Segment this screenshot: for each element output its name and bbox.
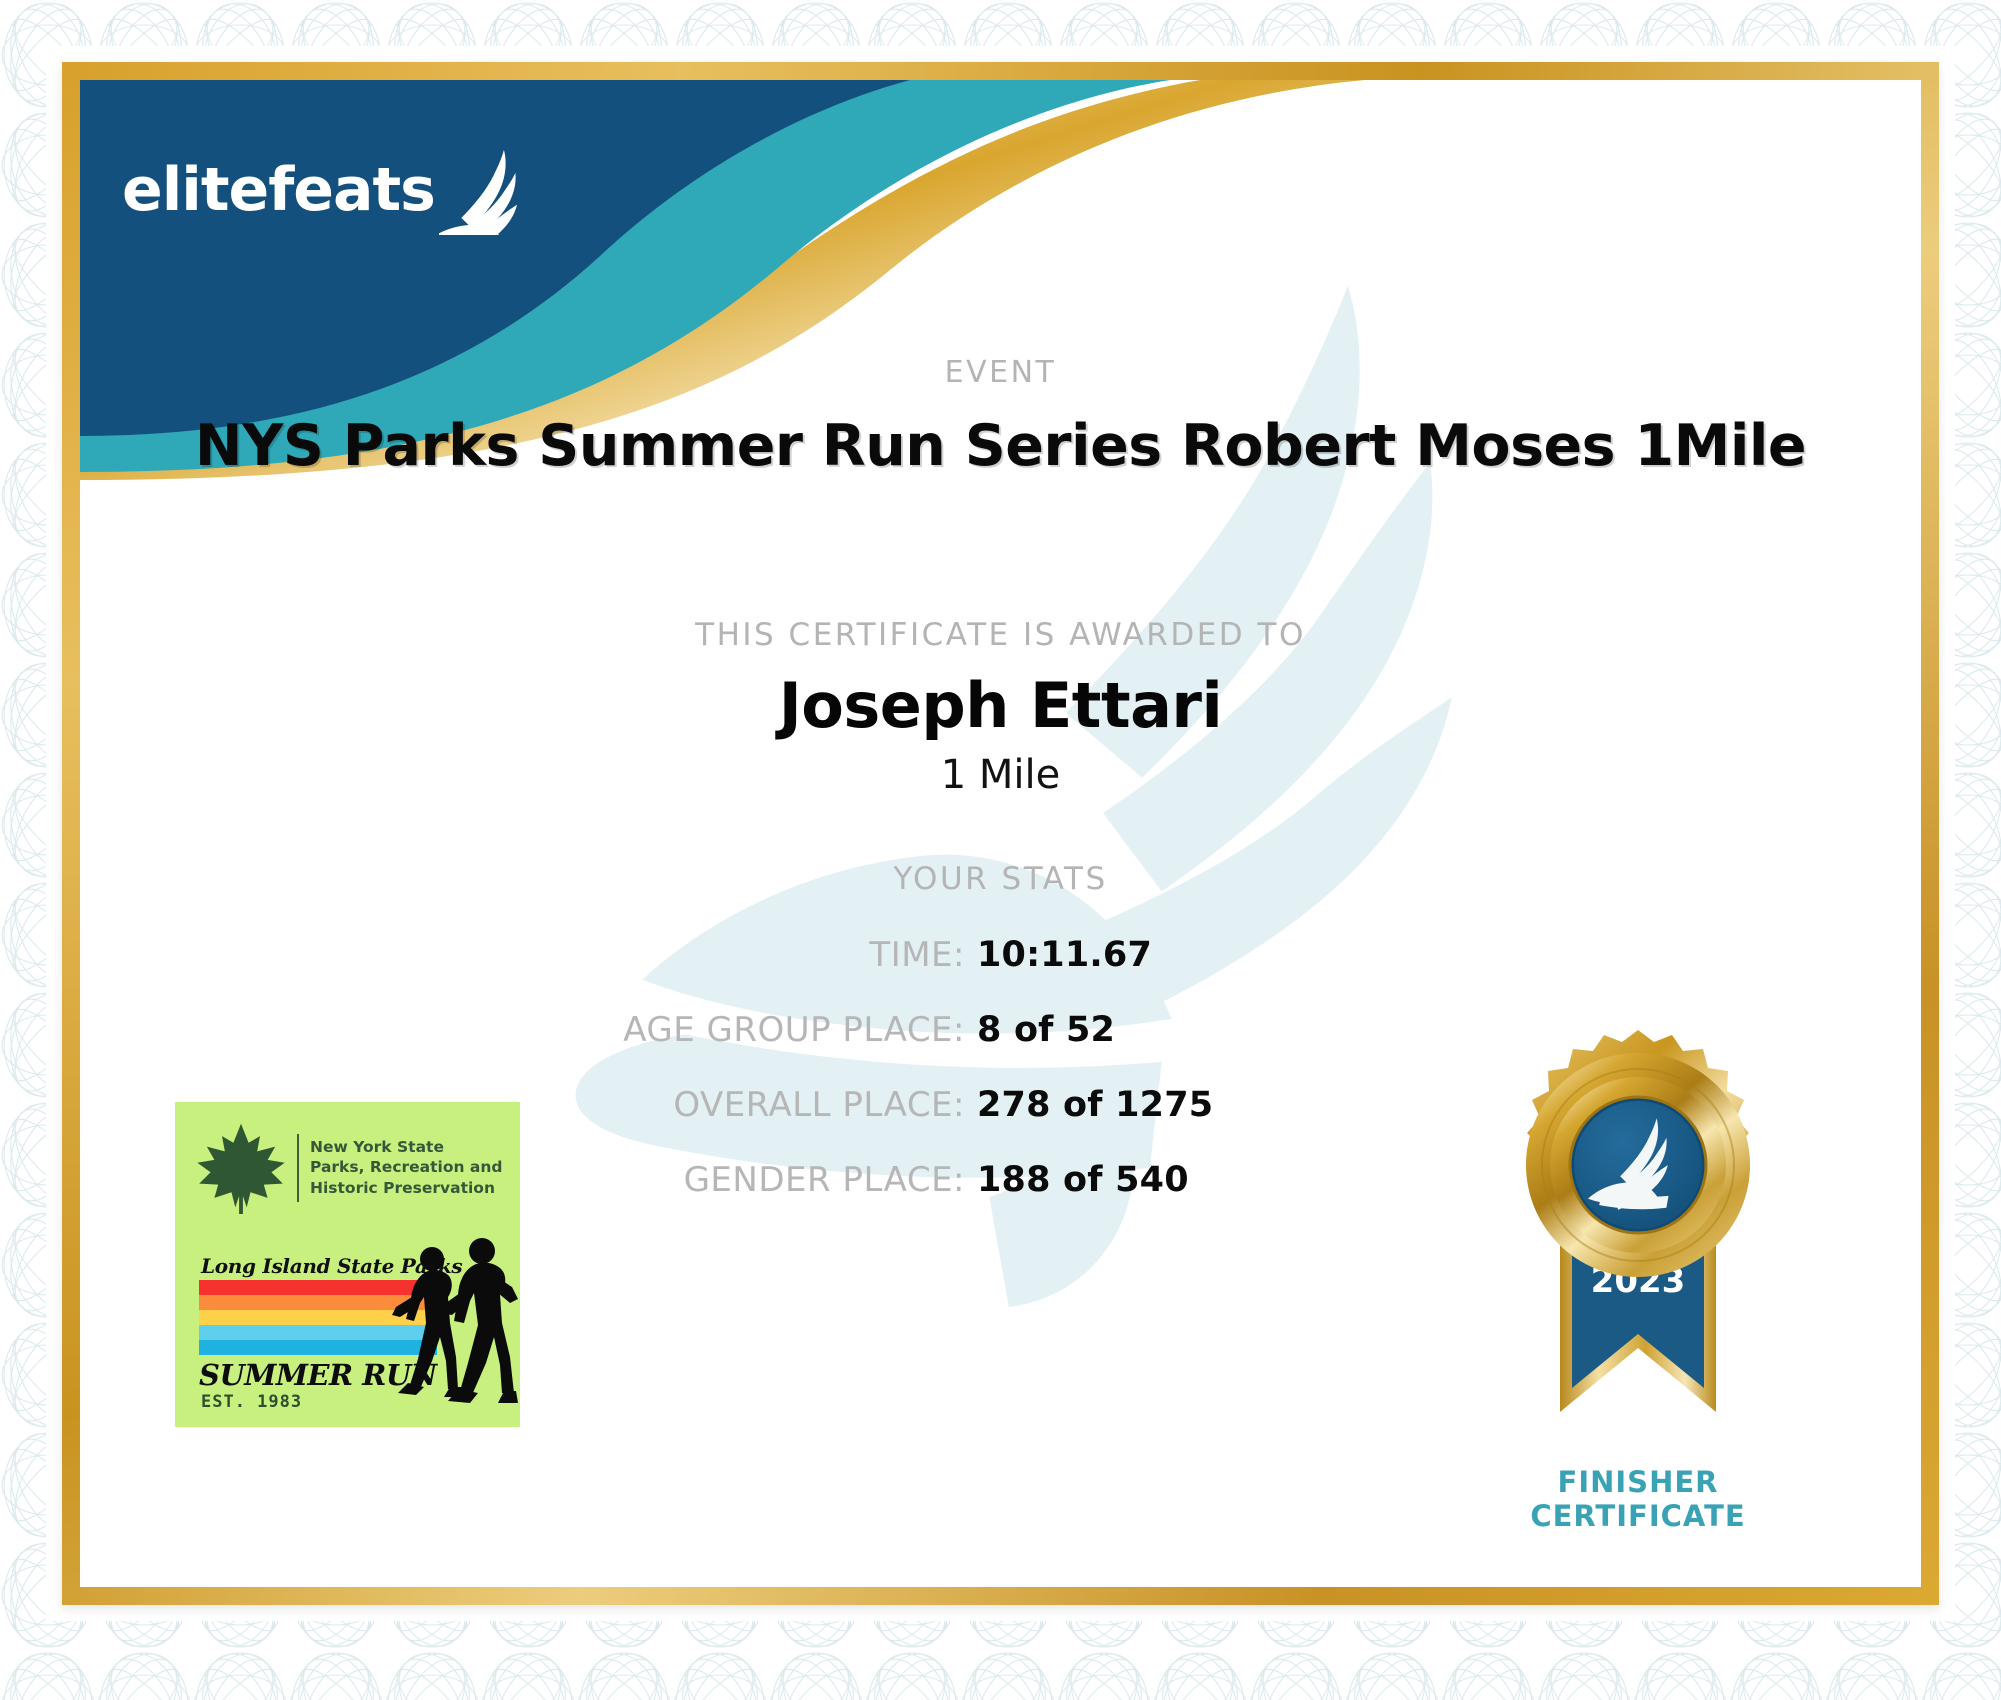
stat-row-age-group-place: AGE GROUP PLACE: 8 of 52 — [80, 1010, 1500, 1058]
elitefeats-logo: elitefeats — [122, 135, 542, 245]
recipient-name: Joseph Ettari — [80, 669, 1921, 742]
agency-lockup: New York State Parks, Recreation and His… — [191, 1120, 503, 1215]
gold-certificate-frame: elitefeats EVENT NYS Parks Summer Run Se… — [62, 62, 1939, 1605]
logo-divider — [297, 1134, 299, 1202]
event-organizer-logo: New York State Parks, Recreation and His… — [175, 1102, 520, 1427]
agency-name: New York State Parks, Recreation and His… — [310, 1137, 503, 1198]
brand-wordmark: elitefeats — [122, 160, 435, 220]
your-stats-label: YOUR STATS — [80, 861, 1921, 897]
finisher-certificate-caption: FINISHER CERTIFICATE — [1468, 1465, 1808, 1533]
event-kicker-label: EVENT — [80, 355, 1921, 390]
awarded-to-label: THIS CERTIFICATE IS AWARDED TO — [80, 617, 1921, 653]
maple-leaf-icon — [191, 1120, 291, 1215]
certificate-page: elitefeats EVENT NYS Parks Summer Run Se… — [0, 0, 2001, 1700]
winged-foot-icon — [439, 145, 523, 235]
stat-label-time: TIME: — [80, 935, 965, 975]
stat-label-age-group-place: AGE GROUP PLACE: — [80, 1010, 965, 1050]
certificate-body: elitefeats EVENT NYS Parks Summer Run Se… — [80, 80, 1921, 1587]
stat-value-time: 10:11.67 — [977, 935, 1152, 975]
stat-value-age-group-place: 8 of 52 — [977, 1010, 1115, 1050]
stat-value-overall-place: 278 of 1275 — [977, 1085, 1213, 1125]
stat-value-gender-place: 188 of 540 — [977, 1160, 1189, 1200]
finisher-medal-badge: 2023 — [1498, 1030, 1778, 1450]
recipient-distance: 1 Mile — [80, 752, 1921, 798]
stat-row-time: TIME: 10:11.67 — [80, 935, 1500, 983]
series-established: EST. 1983 — [201, 1392, 302, 1412]
event-title: NYS Parks Summer Run Series Robert Moses… — [80, 413, 1921, 479]
series-name: SUMMER RUN — [199, 1358, 437, 1392]
